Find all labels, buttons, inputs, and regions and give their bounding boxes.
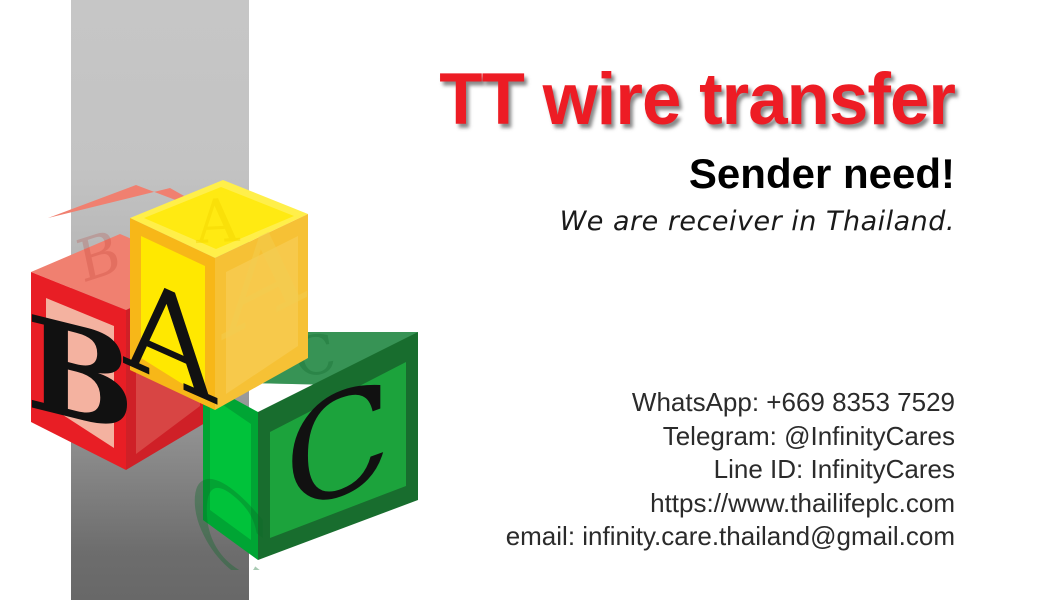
contact-line-lineid: Line ID: InfinityCares bbox=[255, 453, 955, 487]
contact-line-telegram: Telegram: @InfinityCares bbox=[255, 420, 955, 454]
tagline: We are receiver in Thailand. bbox=[255, 203, 955, 241]
contact-info-block: WhatsApp: +669 8353 7529 Telegram: @Infi… bbox=[255, 386, 955, 554]
contact-line-website[interactable]: https://www.thailifeplc.com bbox=[255, 487, 955, 521]
poster-canvas: B B C bbox=[0, 0, 1063, 600]
subtitle: Sender need! bbox=[255, 150, 955, 198]
svg-text:B: B bbox=[26, 286, 134, 464]
page-title: TT wire transfer bbox=[276, 62, 955, 138]
contact-line-email[interactable]: email: infinity.care.thailand@gmail.com bbox=[255, 520, 955, 554]
contact-line-whatsapp: WhatsApp: +669 8353 7529 bbox=[255, 386, 955, 420]
